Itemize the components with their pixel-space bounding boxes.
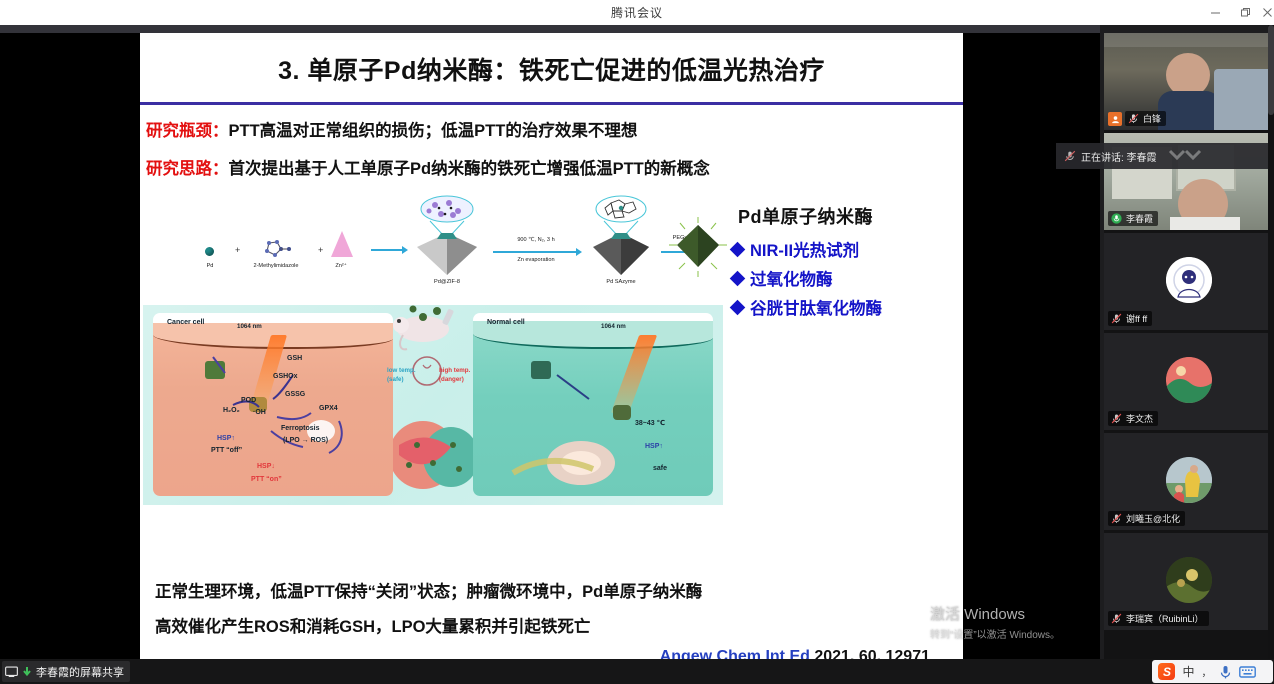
mic-muted-icon xyxy=(1111,613,1122,624)
panel-a-label-znevap: Zn evaporation xyxy=(491,257,581,263)
low-temp-label: low temp. xyxy=(387,367,416,374)
zn-crystal-icon xyxy=(331,231,353,257)
slide-title: 3. 单原子Pd纳米酶：铁死亡促进的低温光热治疗 xyxy=(140,51,963,87)
host-badge-icon xyxy=(1108,112,1122,126)
cancer-label-oh: ·OH xyxy=(253,409,266,416)
pd-zif8-octahedron-icon xyxy=(411,231,483,277)
vertical-scrollbar[interactable] xyxy=(1268,25,1274,659)
participant-tile-0[interactable]: 白锋 xyxy=(1104,33,1274,130)
minimize-icon[interactable] xyxy=(1200,0,1230,25)
panel-a-label-imidazole: 2-Methylimidazole xyxy=(241,263,311,269)
cancer-label-pod: POD xyxy=(241,397,256,404)
plus-sign-2: + xyxy=(318,245,323,255)
shared-screen-stage[interactable]: 3. 单原子Pd纳米酶：铁死亡促进的低温光热治疗 研究瓶颈：PTT高温对正常组织… xyxy=(0,33,1100,659)
panel-a-label-pdzif8: Pd@ZIF-8 xyxy=(415,279,479,285)
panel-a-synthesis: Pd + 2-Methylimidazole + Zn²⁺ xyxy=(143,195,723,301)
pd-atom-icon xyxy=(205,247,214,256)
citation-journal: Angew Chem Int Ed xyxy=(660,648,810,659)
avatar xyxy=(1166,257,1212,303)
bullet-label-1: NIR-II光热试剂 xyxy=(750,237,859,261)
panel-b-mechanism: Cancer cell 1064 nm GSH GSHOx GSSG GPX4 … xyxy=(143,305,723,505)
participant-tile-4[interactable]: 刘曦玉@北化 xyxy=(1104,433,1274,530)
participant-nameplate-0: 白锋 xyxy=(1125,111,1166,126)
mic-muted-icon xyxy=(1111,513,1122,524)
panel-a-label-conditions: 900 ℃, N₂, 3 h xyxy=(491,237,581,243)
speaking-indicator: 正在讲话: 李春霞 xyxy=(1056,143,1274,169)
normal-cell-title: Normal cell xyxy=(487,319,525,326)
mic-on-icon xyxy=(1128,113,1139,124)
shared-screen-topbar xyxy=(0,25,1100,33)
cancer-label-ptt-off: PTT “off” xyxy=(211,447,242,454)
keyboard-icon[interactable] xyxy=(1239,666,1256,678)
presentation-slide: 3. 单原子Pd纳米酶：铁死亡促进的低温光热治疗 研究瓶颈：PTT高温对正常组织… xyxy=(140,33,963,659)
normal-safe-label: safe xyxy=(653,465,667,472)
participant-strip[interactable]: 白锋 李春霞 xyxy=(1104,33,1274,659)
conclusion-line-2: 高效催化产生ROS和消耗GSH，LPO大量累积并引起铁死亡 xyxy=(155,613,955,637)
taskbar[interactable]: 李春霞的屏幕共享 S 中 ， xyxy=(0,659,1274,684)
bottleneck-label: 研究瓶颈： xyxy=(146,122,229,140)
bullet-item-2: 过氧化物酶 xyxy=(732,266,960,290)
ime-mode-toggle[interactable]: 中 xyxy=(1182,663,1194,680)
participant-tile-2[interactable]: 谢ff ff xyxy=(1104,233,1274,330)
participant-nameplate-1: 李春霞 xyxy=(1108,211,1158,226)
bottleneck-line: 研究瓶颈：PTT高温对正常组织的损伤；低温PTT的治疗效果不理想 xyxy=(146,117,637,141)
slide-bullet-panel: Pd单原子纳米酶 NIR-II光热试剂 过氧化物酶 谷胱甘肽氧化物酶 xyxy=(732,203,960,324)
participant-nameplate-2: 谢ff ff xyxy=(1108,311,1152,326)
bullet-label-3: 谷胱甘肽氧化物酶 xyxy=(750,295,882,319)
normal-hsp-label: HSP↑ xyxy=(645,443,663,450)
participant-name-0: 白锋 xyxy=(1143,112,1161,125)
screen-share-label: 李春霞的屏幕共享 xyxy=(36,664,124,680)
low-temp-sub: (safe) xyxy=(387,376,404,383)
mic-active-icon xyxy=(1111,213,1122,224)
window-title: 腾讯会议 xyxy=(611,4,663,21)
normal-laser-label: 1064 nm xyxy=(601,323,626,330)
idea-label: 研究思路： xyxy=(146,160,229,178)
screen-share-indicator[interactable]: 李春霞的屏幕共享 xyxy=(2,661,130,682)
normal-cell-illustration: Normal cell 1064 nm 38~43 ℃ HSP↑ safe xyxy=(473,313,713,496)
arrow-2-icon xyxy=(493,251,577,253)
monitor-icon xyxy=(5,666,18,678)
diamond-bullet-icon xyxy=(730,270,746,286)
title-divider xyxy=(140,102,963,105)
chevrons-icon xyxy=(1168,148,1214,164)
ime-punctuation-toggle[interactable]: ， xyxy=(1202,664,1212,679)
figure: a b Pd + 2-Methylimidazole + xyxy=(143,195,723,565)
participant-name-3: 李文杰 xyxy=(1126,412,1153,425)
voice-input-icon[interactable] xyxy=(1219,665,1232,679)
participant-name-4: 刘曦玉@北化 xyxy=(1126,512,1180,525)
mouse-graphic xyxy=(393,305,478,505)
pegylated-particle-icon xyxy=(667,217,729,279)
citation: Angew Chem Int Ed 2021, 60, 12971 xyxy=(140,648,930,659)
avatar xyxy=(1166,557,1212,603)
normal-arrows xyxy=(473,313,713,496)
arrow-1-icon xyxy=(371,249,403,251)
cancer-label-hsp-up: HSP↑ xyxy=(217,435,235,442)
participant-nameplate-4: 刘曦玉@北化 xyxy=(1108,511,1185,526)
cancer-label-gssg: GSSG xyxy=(285,391,305,398)
window-titlebar: 腾讯会议 xyxy=(0,0,1274,25)
participant-name-1: 李春霞 xyxy=(1126,212,1153,225)
cancer-label-ferroptosis: Ferroptosis xyxy=(281,425,320,432)
idea-line: 研究思路：首次提出基于人工单原子Pd纳米酶的铁死亡增强低温PTT的新概念 xyxy=(146,155,710,179)
participant-name-5: 李瑞宾（RuibinLi） xyxy=(1126,612,1204,625)
pd-sazyme-octahedron-icon xyxy=(587,231,655,277)
cancer-label-h2o2: H₂O₂ xyxy=(223,407,240,414)
cancer-label-gsh: GSH xyxy=(287,355,302,362)
conclusion-line-1: 正常生理环境，低温PTT保持“关闭”状态；肿瘤微环境中，Pd单原子纳米酶 xyxy=(155,578,955,602)
bullet-item-3: 谷胱甘肽氧化物酶 xyxy=(732,295,960,319)
window-controls xyxy=(1200,0,1274,25)
tencent-meeting-window: 腾讯会议 3. 单原子Pd纳米酶：铁死亡促进的低温光热治疗 研究瓶颈：PTT高温… xyxy=(0,0,1274,684)
normal-temp-label: 38~43 ℃ xyxy=(635,419,665,427)
panel-a-label-pd: Pd xyxy=(196,263,224,269)
participant-nameplate-5: 李瑞宾（RuibinLi） xyxy=(1108,611,1209,626)
diamond-bullet-icon xyxy=(730,299,746,315)
methylimidazole-icon xyxy=(261,239,291,259)
participant-name-2: 谢ff ff xyxy=(1126,312,1147,325)
panel-a-label-sazyme: Pd SAzyme xyxy=(589,279,653,285)
speaking-mic-icon xyxy=(1064,150,1076,162)
cancer-label-hsp-down: HSP↓ xyxy=(257,463,275,470)
mic-muted-icon xyxy=(1111,413,1122,424)
download-arrow-icon xyxy=(21,666,33,678)
mouse-tumor-illustration: low temp. (safe) high temp. (danger) xyxy=(393,305,478,505)
bullet-label-2: 过氧化物酶 xyxy=(750,266,833,290)
cancer-laser-label: 1064 nm xyxy=(237,323,262,330)
cancer-label-lpo-ros: (LPO → ROS) xyxy=(283,437,328,444)
ime-toolbar[interactable]: S 中 ， xyxy=(1152,660,1273,683)
cancer-label-gpx4: GPX4 xyxy=(319,405,338,412)
cancer-label-ptt-on: PTT “on” xyxy=(251,476,282,483)
avatar xyxy=(1166,357,1212,403)
idea-text: 首次提出基于人工单原子Pd纳米酶的铁死亡增强低温PTT的新概念 xyxy=(229,160,710,178)
cancer-cell-title: Cancer cell xyxy=(167,319,204,326)
cancer-cell-illustration: Cancer cell 1064 nm GSH GSHOx GSSG GPX4 … xyxy=(153,313,393,496)
high-temp-sub: (danger) xyxy=(439,376,464,383)
close-icon[interactable] xyxy=(1260,0,1274,25)
sogou-logo-icon[interactable]: S xyxy=(1158,663,1175,680)
mic-muted-icon xyxy=(1111,313,1122,324)
citation-details: 2021, 60, 12971 xyxy=(810,648,930,659)
participant-tile-3[interactable]: 李文杰 xyxy=(1104,333,1274,430)
speaking-label: 正在讲话: 李春霞 xyxy=(1081,149,1157,164)
panel-a-label-zn: Zn²⁺ xyxy=(323,263,359,269)
participant-tile-5[interactable]: 李瑞宾（RuibinLi） xyxy=(1104,533,1274,630)
cancer-label-gshox: GSHOx xyxy=(273,373,298,380)
bullet-heading: Pd单原子纳米酶 xyxy=(738,203,960,229)
participant-nameplate-3: 李文杰 xyxy=(1108,411,1158,426)
bullet-item-1: NIR-II光热试剂 xyxy=(732,237,960,261)
avatar xyxy=(1166,457,1212,503)
high-temp-label: high temp. xyxy=(439,367,470,374)
plus-sign-1: + xyxy=(235,245,240,255)
restore-icon[interactable] xyxy=(1230,0,1260,25)
bottleneck-text: PTT高温对正常组织的损伤；低温PTT的治疗效果不理想 xyxy=(229,122,638,140)
diamond-bullet-icon xyxy=(730,241,746,257)
scrollbar-thumb[interactable] xyxy=(1268,25,1274,115)
